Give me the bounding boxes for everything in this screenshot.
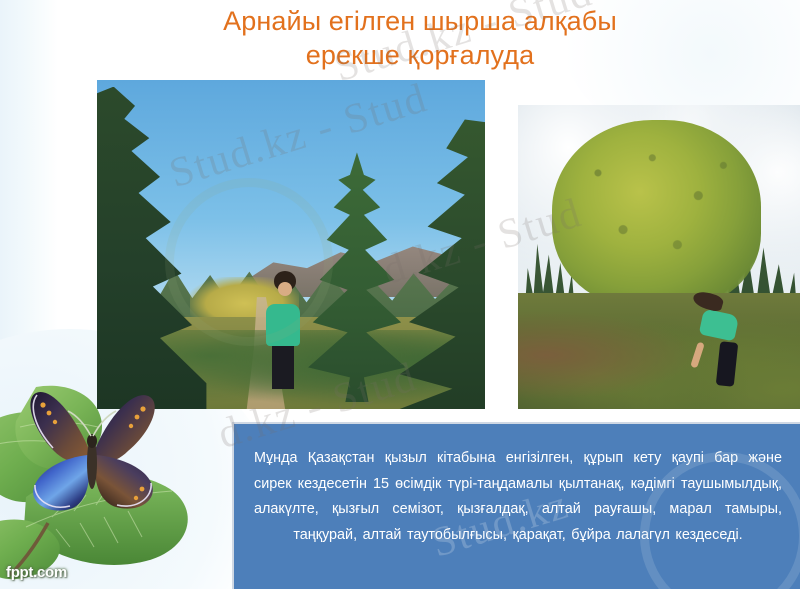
butterfly-wing-upper-right	[96, 395, 155, 462]
slide-canvas: Арнайы егілген шырша алқабы ерекше қорға…	[0, 0, 800, 589]
photo-left	[97, 80, 485, 409]
butterfly-leaf-decoration	[0, 377, 222, 589]
photo-left-person-shirt	[266, 304, 300, 346]
caption-text: Мұнда Қазақстан қызыл кітабына енгізілге…	[254, 446, 782, 548]
photo-left-person-legs	[272, 343, 294, 389]
page-title: Арнайы егілген шырша алқабы ерекше қорға…	[120, 4, 720, 72]
fppt-logo[interactable]: fppt.com	[6, 564, 67, 581]
butterfly-head	[87, 434, 97, 448]
butterfly-leaf-svg	[0, 377, 222, 589]
photo-right-shrubs	[518, 281, 800, 409]
caption-box: Мұнда Қазақстан қызыл кітабына енгізілге…	[232, 422, 800, 589]
photo-right	[518, 105, 800, 409]
